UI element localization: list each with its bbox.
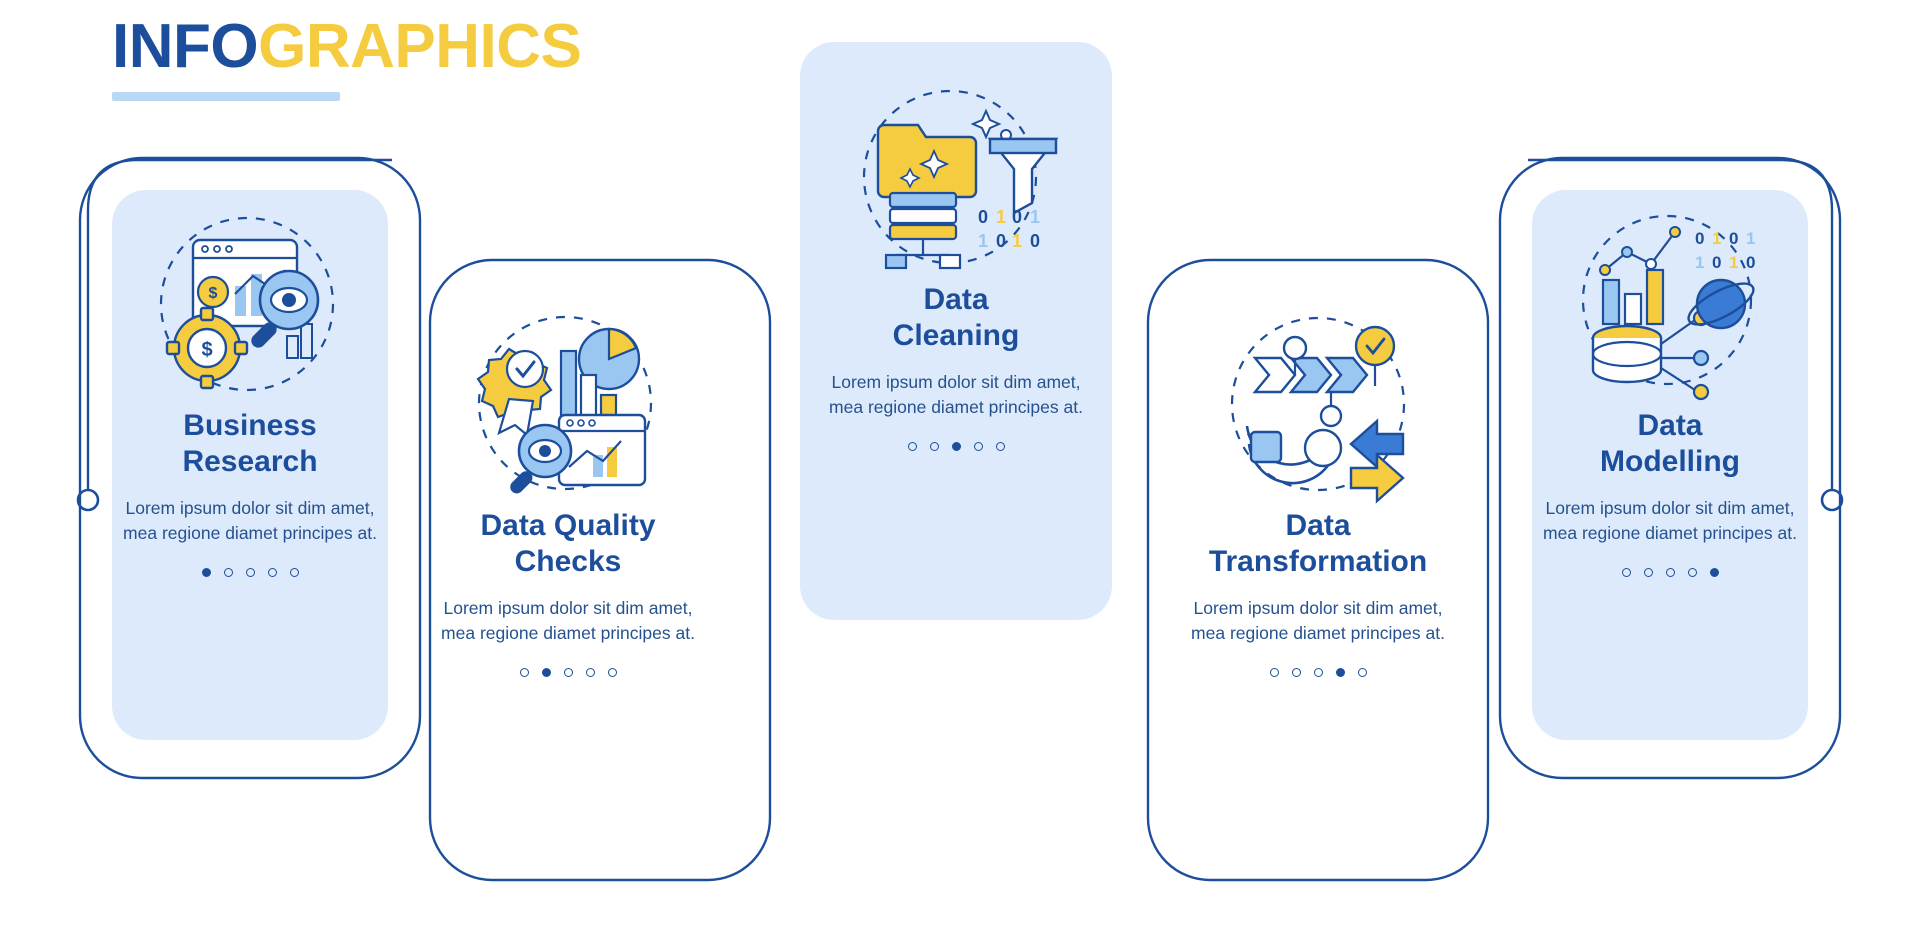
progress-dot[interactable]	[1710, 568, 1719, 577]
svg-text:1: 1	[996, 207, 1006, 227]
svg-text:0: 0	[1746, 253, 1755, 272]
svg-text:0: 0	[1030, 231, 1040, 251]
progress-dot[interactable]	[1666, 568, 1675, 577]
progress-dot[interactable]	[1270, 668, 1279, 677]
card-description: Lorem ipsum dolor sit dim amet, mea regi…	[1188, 596, 1448, 646]
step-progress-dots	[520, 668, 617, 677]
progress-dot[interactable]	[1358, 668, 1367, 677]
progress-dot[interactable]	[268, 568, 277, 577]
progress-dot[interactable]	[1644, 568, 1653, 577]
progress-dot[interactable]	[1336, 668, 1345, 677]
step-card-business-research[interactable]: $ $	[112, 190, 388, 740]
progress-dot[interactable]	[996, 442, 1005, 451]
svg-text:0: 0	[978, 207, 988, 227]
progress-dot[interactable]	[290, 568, 299, 577]
progress-dot[interactable]	[930, 442, 939, 451]
step-progress-dots	[202, 568, 299, 577]
step-card-data-transformation[interactable]: Data Transformation Lorem ipsum dolor si…	[1148, 290, 1488, 840]
business-research-icon: $ $	[130, 208, 370, 408]
card-description: Lorem ipsum dolor sit dim amet, mea regi…	[120, 496, 380, 546]
progress-dot[interactable]	[586, 668, 595, 677]
progress-dot[interactable]	[564, 668, 573, 677]
svg-text:$: $	[209, 285, 218, 302]
progress-dot[interactable]	[974, 442, 983, 451]
card-title: Data Cleaning	[893, 282, 1020, 354]
step-card-data-cleaning[interactable]: 0 1 0 1 1 0 1 0 Data Cleaning Lorem ipsu…	[800, 42, 1112, 620]
progress-dot[interactable]	[608, 668, 617, 677]
title-underline	[112, 92, 340, 101]
data-cleaning-icon: 0 1 0 1 1 0 1 0	[836, 82, 1076, 282]
card-title: Business Research	[182, 408, 317, 480]
data-modelling-icon: 0 1 0 1 1 0 1 0	[1550, 208, 1790, 408]
progress-dot[interactable]	[520, 668, 529, 677]
progress-dot[interactable]	[246, 568, 255, 577]
svg-text:$: $	[201, 339, 212, 361]
progress-dot[interactable]	[1314, 668, 1323, 677]
progress-dot[interactable]	[1622, 568, 1631, 577]
step-card-data-modelling[interactable]: 0 1 0 1 1 0 1 0 Data Modelling Lorem ips…	[1532, 190, 1808, 740]
step-progress-dots	[908, 442, 1005, 451]
title-part-graphics: GRAPHICS	[258, 12, 581, 81]
data-transformation-icon	[1198, 308, 1438, 508]
title-part-info: INFO	[112, 12, 258, 81]
card-description: Lorem ipsum dolor sit dim amet, mea regi…	[826, 370, 1086, 420]
step-card-data-quality-checks[interactable]: Data Quality Checks Lorem ipsum dolor si…	[430, 290, 706, 840]
progress-dot[interactable]	[1688, 568, 1697, 577]
page-title: INFOGRAPHICS	[112, 16, 581, 101]
data-quality-checks-icon	[448, 308, 688, 508]
progress-dot[interactable]	[224, 568, 233, 577]
progress-dot[interactable]	[1292, 668, 1301, 677]
card-description: Lorem ipsum dolor sit dim amet, mea regi…	[1540, 496, 1800, 546]
card-description: Lorem ipsum dolor sit dim amet, mea regi…	[438, 596, 698, 646]
svg-text:0: 0	[1012, 207, 1022, 227]
card-title: Data Transformation	[1209, 508, 1427, 580]
svg-text:0: 0	[1695, 229, 1704, 248]
svg-text:0: 0	[1729, 229, 1738, 248]
svg-text:1: 1	[1729, 253, 1738, 272]
step-progress-dots	[1622, 568, 1719, 577]
progress-dot[interactable]	[542, 668, 551, 677]
progress-dot[interactable]	[952, 442, 961, 451]
svg-text:1: 1	[1695, 253, 1704, 272]
svg-text:1: 1	[1012, 231, 1022, 251]
svg-text:1: 1	[1746, 229, 1755, 248]
svg-text:1: 1	[978, 231, 988, 251]
card-title: Data Quality Checks	[480, 508, 655, 580]
step-progress-dots	[1270, 668, 1367, 677]
svg-text:1: 1	[1030, 207, 1040, 227]
progress-dot[interactable]	[908, 442, 917, 451]
svg-text:0: 0	[996, 231, 1006, 251]
svg-text:0: 0	[1712, 253, 1721, 272]
svg-text:1: 1	[1712, 229, 1721, 248]
progress-dot[interactable]	[202, 568, 211, 577]
card-title: Data Modelling	[1600, 408, 1740, 480]
